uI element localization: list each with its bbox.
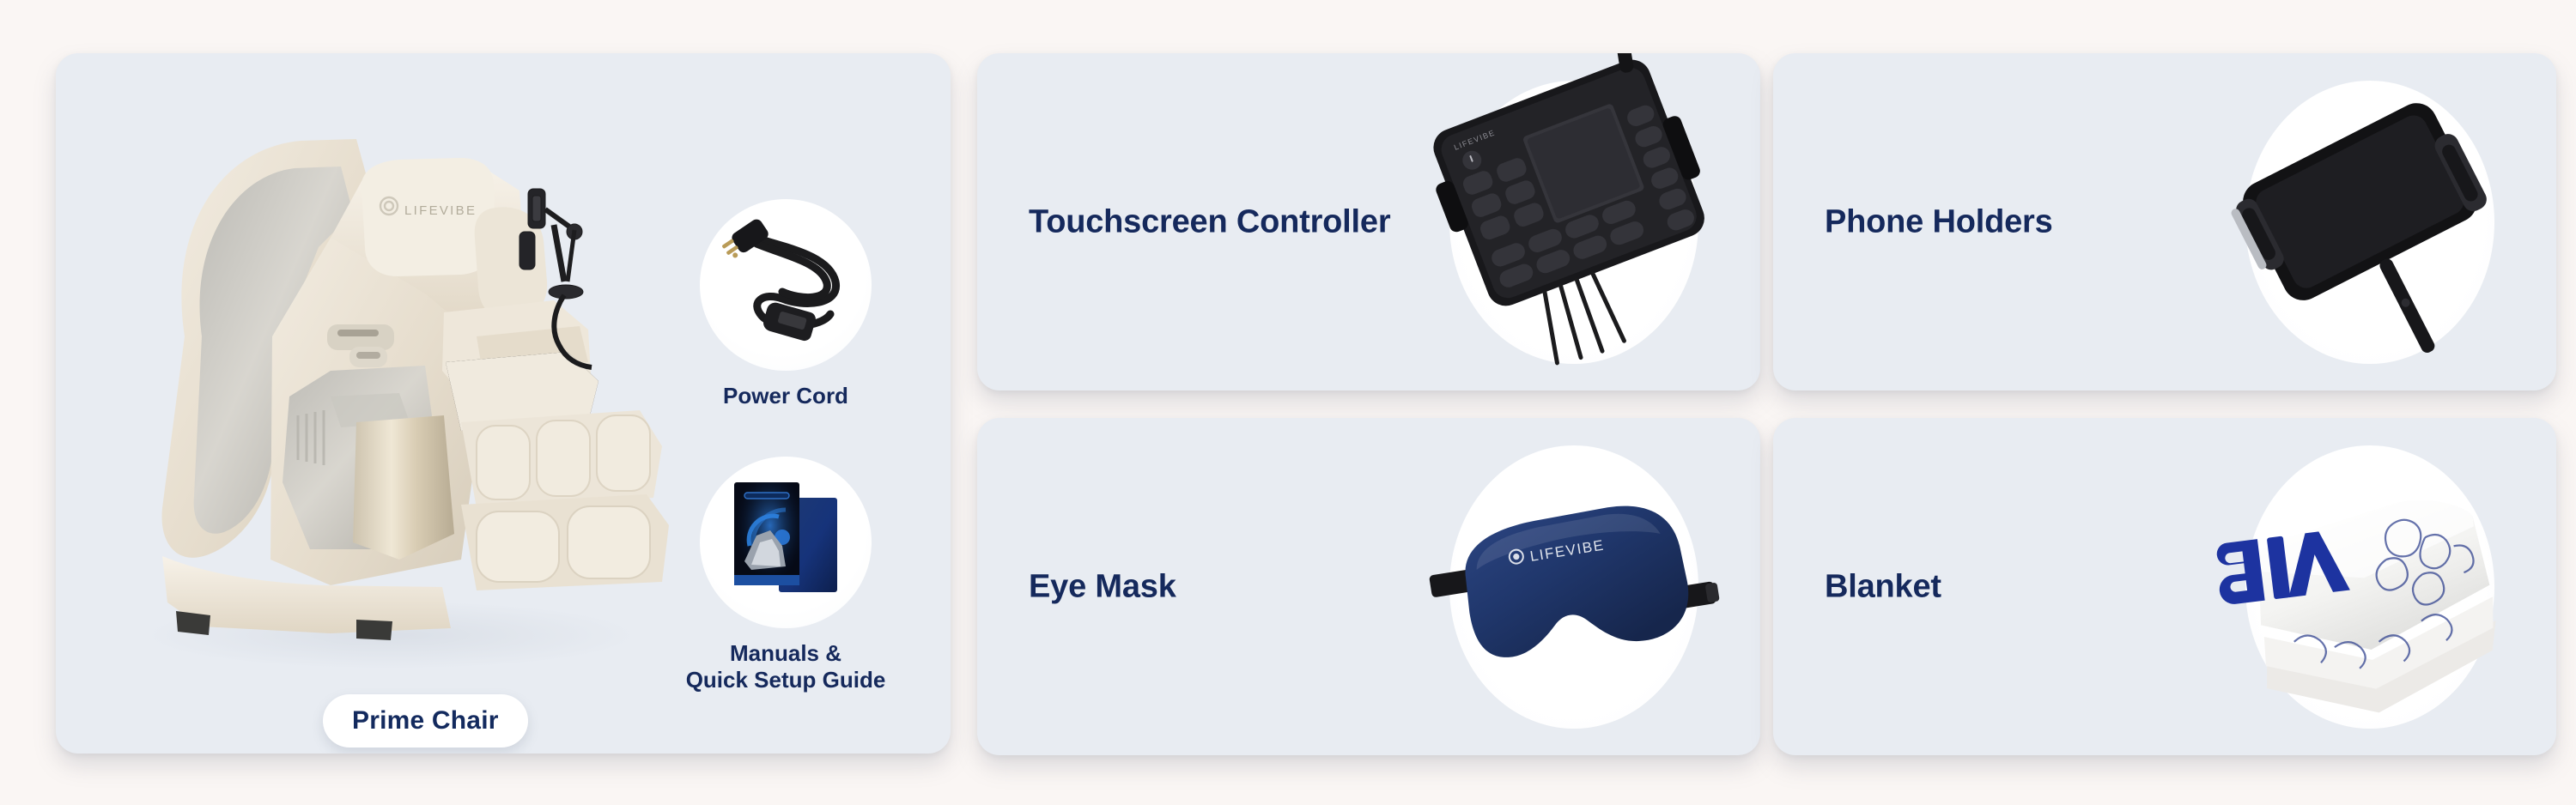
card-eye-mask[interactable]: Eye Mask — [977, 418, 1760, 755]
accessory-label: Power Cord — [657, 383, 914, 409]
card-prime-chair[interactable]: LIFEVIBE — [56, 53, 951, 754]
svg-text:LIFEVIBE: LIFEVIBE — [404, 203, 477, 218]
card-blanket[interactable]: Blanket — [1773, 418, 2556, 755]
phone-holder-photo — [2213, 53, 2522, 390]
manuals-photo — [700, 457, 872, 628]
accessory-power-cord[interactable]: Power Cord — [657, 199, 914, 409]
tile-label: Eye Mask — [1029, 568, 1176, 605]
accessory-manuals[interactable]: Manuals & Quick Setup Guide — [657, 457, 914, 693]
accessory-label-line1: Manuals & — [730, 640, 841, 666]
power-cord-photo — [700, 199, 872, 371]
massage-chair-photo: LIFEVIBE — [73, 79, 674, 705]
card-phone-holders[interactable]: Phone Holders — [1773, 53, 2556, 390]
accessory-label-line2: Quick Setup Guide — [686, 667, 886, 693]
card-touchscreen-controller[interactable]: Touchscreen Controller LIFEVIBE — [977, 53, 1760, 390]
blanket-photo — [2213, 418, 2522, 755]
accessory-label: Manuals & Quick Setup Guide — [657, 640, 914, 693]
touchscreen-controller-photo: LIFEVIBE — [1417, 53, 1726, 390]
whats-in-the-box-layout: LIFEVIBE — [0, 0, 2576, 805]
tile-label: Phone Holders — [1825, 203, 2053, 240]
product-badge-prime-chair[interactable]: Prime Chair — [323, 694, 528, 747]
tile-label: Blanket — [1825, 568, 1941, 605]
eye-mask-photo: LIFEVIBE — [1417, 418, 1726, 755]
tile-label: Touchscreen Controller — [1029, 203, 1390, 240]
